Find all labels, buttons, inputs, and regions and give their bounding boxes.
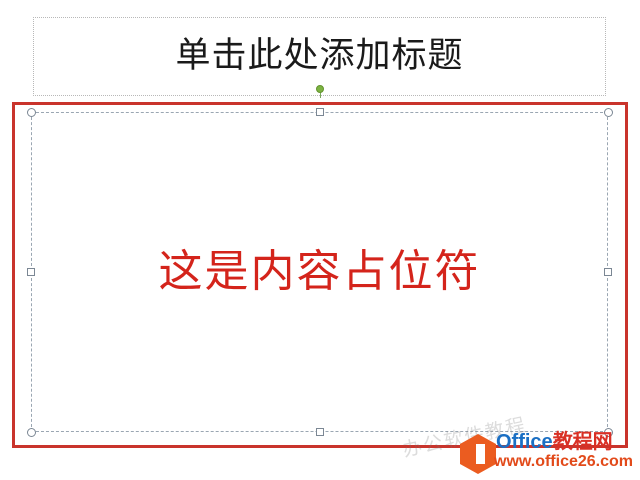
resize-handle-top-center[interactable] [316, 108, 324, 116]
watermark-url: www.office26.com [494, 454, 633, 470]
resize-handle-top-left[interactable] [27, 108, 36, 117]
resize-handle-top-right[interactable] [604, 108, 613, 117]
title-placeholder-text: 单击此处添加标题 [175, 37, 463, 76]
resize-handle-middle-left[interactable] [27, 268, 35, 276]
rotation-handle-icon[interactable] [316, 85, 325, 97]
resize-handle-bottom-right[interactable] [604, 428, 613, 437]
content-placeholder-text: 这是内容占位符 [159, 248, 481, 296]
rotation-handle-knob[interactable] [316, 85, 324, 93]
slide-canvas: 单击此处添加标题 这是内容占位符 办公软件教程 Office教程网 www.of… [0, 0, 640, 479]
resize-handle-bottom-center[interactable] [316, 428, 324, 436]
resize-handle-bottom-left[interactable] [27, 428, 36, 437]
content-placeholder[interactable]: 这是内容占位符 [31, 112, 608, 432]
resize-handle-middle-right[interactable] [604, 268, 612, 276]
